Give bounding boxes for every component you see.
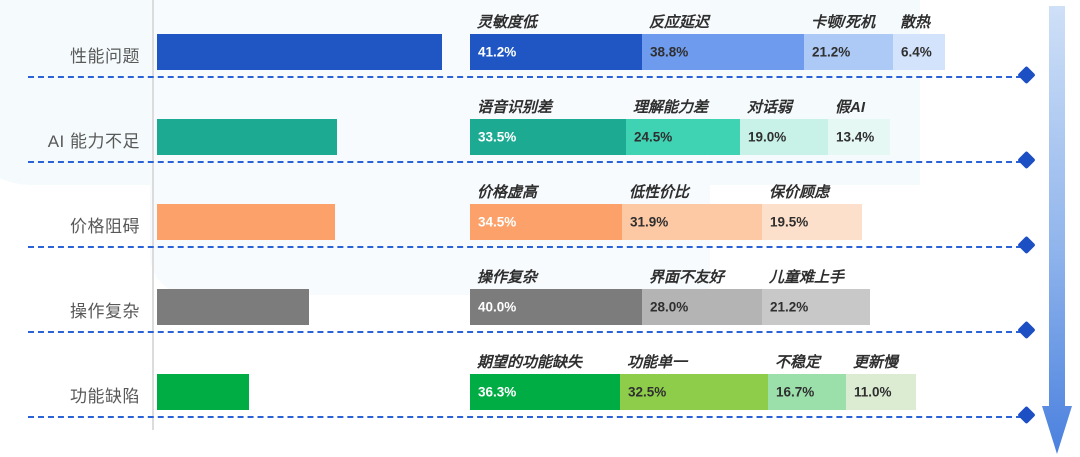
segment-label: 不稳定 xyxy=(768,350,846,372)
segment-value-label: 13.4% xyxy=(836,130,874,145)
segment-label-row: 灵敏度低反应延迟卡顿/死机散热 xyxy=(470,10,945,32)
segment-cell: 24.5% xyxy=(626,119,740,155)
segment-cell: 28.0% xyxy=(642,289,762,325)
segment-cell: 19.5% xyxy=(762,204,862,240)
segment-label: 功能单一 xyxy=(620,350,768,372)
row-divider xyxy=(28,331,1022,333)
primary-magnitude-bar xyxy=(157,34,442,70)
segment-label: 语音识别差 xyxy=(470,95,626,117)
segment-label-text: 功能单一 xyxy=(627,351,687,372)
segment-cell: 21.2% xyxy=(804,34,893,70)
segment-cell: 34.5% xyxy=(470,204,622,240)
segment-label-text: 语音识别差 xyxy=(477,96,552,117)
segment-label-text: 对话弱 xyxy=(747,96,792,117)
segment-value-label: 21.2% xyxy=(770,300,808,315)
segment-cell: 33.5% xyxy=(470,119,626,155)
stacked-segment-bar: 36.3%32.5%16.7%11.0% xyxy=(470,374,916,410)
segment-label-text: 不稳定 xyxy=(775,351,820,372)
category-label: 性能问题 xyxy=(0,42,140,67)
segment-label-row: 价格虚高低性价比保价顾虑 xyxy=(470,180,862,202)
segment-label-text: 更新慢 xyxy=(853,351,898,372)
category-label: AI 能力不足 xyxy=(0,127,140,152)
segment-label-text: 保价顾虑 xyxy=(769,181,829,202)
segment-label: 低性价比 xyxy=(622,180,762,202)
segment-label: 理解能力差 xyxy=(626,95,740,117)
segment-value-label: 11.0% xyxy=(854,385,892,400)
primary-magnitude-bar xyxy=(157,204,335,240)
row-divider xyxy=(28,246,1022,248)
segment-label-row: 语音识别差理解能力差对话弱假AI xyxy=(470,95,890,117)
chart-canvas: 性能问题灵敏度低反应延迟卡顿/死机散热41.2%38.8%21.2%6.4%AI… xyxy=(0,0,1080,457)
segment-cell: 13.4% xyxy=(828,119,890,155)
category-label: 操作复杂 xyxy=(0,297,140,322)
segment-label-text: 假AI xyxy=(835,96,865,117)
segment-cell: 21.2% xyxy=(762,289,870,325)
segment-label-text: 灵敏度低 xyxy=(477,11,537,32)
segment-label: 保价顾虑 xyxy=(762,180,862,202)
segment-cell: 36.3% xyxy=(470,374,620,410)
segment-cell: 38.8% xyxy=(642,34,804,70)
segment-label-row: 操作复杂界面不友好儿童难上手 xyxy=(470,265,870,287)
chart-row: 价格阻碍价格虚高低性价比保价顾虑34.5%31.9%19.5% xyxy=(0,178,1080,256)
primary-magnitude-bar xyxy=(157,289,309,325)
row-divider xyxy=(28,161,1022,163)
segment-label: 儿童难上手 xyxy=(762,265,870,287)
chart-row: 性能问题灵敏度低反应延迟卡顿/死机散热41.2%38.8%21.2%6.4% xyxy=(0,8,1080,86)
segment-label-text: 理解能力差 xyxy=(633,96,708,117)
segment-label: 卡顿/死机 xyxy=(804,10,893,32)
primary-magnitude-bar xyxy=(157,374,249,410)
segment-value-label: 32.5% xyxy=(628,385,666,400)
segment-cell: 11.0% xyxy=(846,374,916,410)
segment-label: 操作复杂 xyxy=(470,265,642,287)
segment-value-label: 38.8% xyxy=(650,45,688,60)
segment-value-label: 6.4% xyxy=(901,45,932,60)
segment-cell: 31.9% xyxy=(622,204,762,240)
segment-value-label: 36.3% xyxy=(478,385,516,400)
segment-cell: 6.4% xyxy=(893,34,945,70)
segment-cell: 16.7% xyxy=(768,374,846,410)
stacked-segment-bar: 33.5%24.5%19.0%13.4% xyxy=(470,119,890,155)
segment-value-label: 33.5% xyxy=(478,130,516,145)
segment-label-row: 期望的功能缺失功能单一不稳定更新慢 xyxy=(470,350,916,372)
stacked-segment-bar: 40.0%28.0%21.2% xyxy=(470,289,870,325)
primary-magnitude-bar xyxy=(157,119,337,155)
chart-row: AI 能力不足语音识别差理解能力差对话弱假AI33.5%24.5%19.0%13… xyxy=(0,93,1080,171)
segment-label-text: 低性价比 xyxy=(629,181,689,202)
segment-cell: 19.0% xyxy=(740,119,828,155)
segment-label-text: 价格虚高 xyxy=(477,181,537,202)
segment-value-label: 24.5% xyxy=(634,130,672,145)
segment-value-label: 40.0% xyxy=(478,300,516,315)
segment-label: 更新慢 xyxy=(846,350,916,372)
segment-cell: 41.2% xyxy=(470,34,642,70)
segment-label: 反应延迟 xyxy=(642,10,804,32)
segment-label-text: 散热 xyxy=(900,11,930,32)
segment-label: 期望的功能缺失 xyxy=(470,350,620,372)
segment-value-label: 19.0% xyxy=(748,130,786,145)
segment-value-label: 34.5% xyxy=(478,215,516,230)
segment-value-label: 41.2% xyxy=(478,45,516,60)
row-divider xyxy=(28,76,1022,78)
segment-cell: 40.0% xyxy=(470,289,642,325)
segment-label-text: 儿童难上手 xyxy=(769,266,844,287)
row-divider xyxy=(28,416,1022,418)
category-label: 价格阻碍 xyxy=(0,212,140,237)
segment-value-label: 31.9% xyxy=(630,215,668,230)
segment-cell: 32.5% xyxy=(620,374,768,410)
stacked-segment-bar: 41.2%38.8%21.2%6.4% xyxy=(470,34,945,70)
segment-value-label: 16.7% xyxy=(776,385,814,400)
segment-label-text: 卡顿/死机 xyxy=(811,11,875,32)
segment-value-label: 19.5% xyxy=(770,215,808,230)
chart-row: 操作复杂操作复杂界面不友好儿童难上手40.0%28.0%21.2% xyxy=(0,263,1080,341)
segment-label: 价格虚高 xyxy=(470,180,622,202)
segment-label: 假AI xyxy=(828,95,890,117)
segment-label-text: 反应延迟 xyxy=(649,11,709,32)
chart-row: 功能缺陷期望的功能缺失功能单一不稳定更新慢36.3%32.5%16.7%11.0… xyxy=(0,348,1080,426)
segment-value-label: 21.2% xyxy=(812,45,850,60)
segment-label: 散热 xyxy=(893,10,945,32)
stacked-segment-bar: 34.5%31.9%19.5% xyxy=(470,204,862,240)
segment-label: 界面不友好 xyxy=(642,265,762,287)
segment-label: 灵敏度低 xyxy=(470,10,642,32)
segment-label-text: 期望的功能缺失 xyxy=(477,351,582,372)
downward-trend-arrow-icon xyxy=(1042,6,1072,454)
segment-label-text: 操作复杂 xyxy=(477,266,537,287)
segment-value-label: 28.0% xyxy=(650,300,688,315)
segment-label-text: 界面不友好 xyxy=(649,266,724,287)
segment-label: 对话弱 xyxy=(740,95,828,117)
category-label: 功能缺陷 xyxy=(0,382,140,407)
